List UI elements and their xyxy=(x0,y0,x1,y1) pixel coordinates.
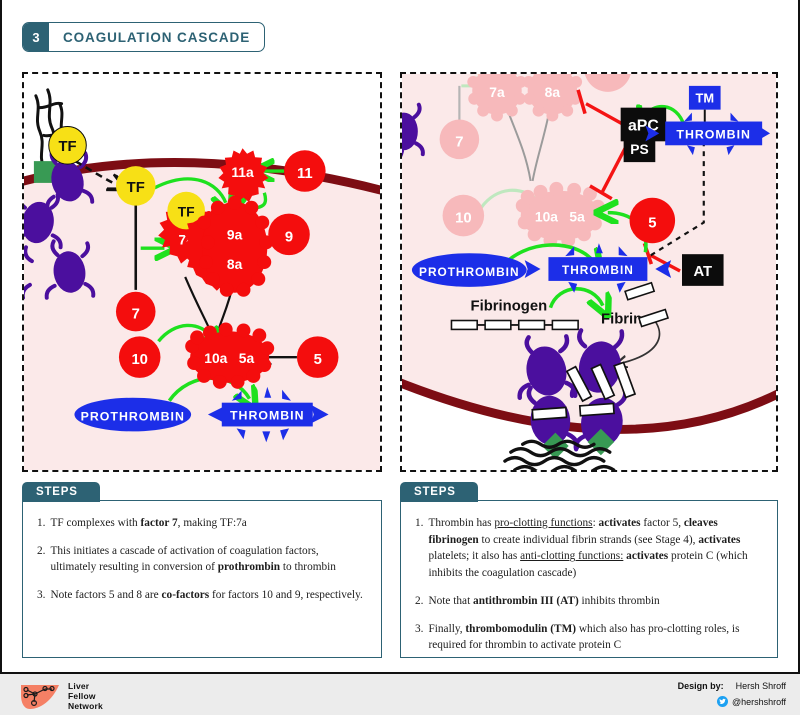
step-index: 1. xyxy=(37,515,45,532)
node-prothrombin: PROTHROMBIN xyxy=(74,398,191,432)
step-item: 2. This initiates a cascade of activatio… xyxy=(37,543,367,576)
step-item: 3. Note factors 5 and 8 are co‑factors f… xyxy=(37,587,367,604)
step-text: This initiates a cascade of activation o… xyxy=(50,543,367,576)
node-thrombin-label: THROMBIN xyxy=(230,409,304,423)
node-factor-5-label: 5 xyxy=(648,215,656,231)
node-factor-11-label: 11 xyxy=(297,166,313,182)
node-tf-surface-label: TF xyxy=(58,139,76,155)
faded-node-factor-8a-label: 8a xyxy=(545,84,561,100)
node-prothrombin: PROTHROMBIN xyxy=(412,253,527,287)
node-tf-small-label: TF xyxy=(178,204,195,220)
node-prothrombin-label: PROTHROMBIN xyxy=(81,409,185,423)
step-text: TF complexes with factor 7, making TF:7a xyxy=(50,515,367,532)
node-factor-10: 10 xyxy=(119,336,161,378)
label-fibrinogen: Fibrinogen xyxy=(471,299,548,315)
node-ps-label: PS xyxy=(630,141,648,157)
node-factor-9: 9 xyxy=(268,214,310,256)
section-number: 3 xyxy=(23,23,49,51)
node-factor-7: 7 xyxy=(116,292,156,332)
node-factor-10-label: 10 xyxy=(131,352,147,368)
step-text: Note factors 5 and 8 are co‑factors for … xyxy=(50,587,367,604)
node-factor-11a-label: 11a xyxy=(231,164,254,180)
node-factor-7-label: 7 xyxy=(132,307,140,323)
steps-tab-left: STEPS xyxy=(22,482,100,502)
logo-line-2: Fellow xyxy=(68,691,103,701)
faded-node-factor-5a-label: 5a xyxy=(569,209,585,225)
node-ps: PS xyxy=(624,134,656,162)
page-title: COAGULATION CASCADE xyxy=(49,23,264,51)
twitter-icon[interactable] xyxy=(717,696,728,707)
node-factor-11: 11 xyxy=(284,150,326,192)
node-factor-5: 5 xyxy=(630,198,676,244)
step-index: 2. xyxy=(415,593,423,610)
twitter-handle[interactable]: @hershshroff xyxy=(732,697,786,707)
step-index: 3. xyxy=(37,587,45,604)
node-at: AT xyxy=(682,254,724,286)
design-by-label: Design by: xyxy=(678,681,724,691)
brand-logo-text: Liver Fellow Network xyxy=(68,681,103,711)
node-prothrombin-label: PROTHROMBIN xyxy=(419,265,519,279)
logo-line-3: Network xyxy=(68,701,103,711)
designer-name: Hersh Shroff xyxy=(736,681,786,691)
node-factor-9a-label: 9a xyxy=(227,226,243,242)
faded-node-factor-7: 7 xyxy=(440,120,480,160)
node-factor-5-label: 5 xyxy=(314,352,322,368)
step-item: 1. Thrombin has pro‑clotting functions: … xyxy=(415,515,763,582)
step-index: 1. xyxy=(415,515,423,582)
node-factor-9-label: 9 xyxy=(285,229,293,245)
faded-node-factor-10a-label: 10a xyxy=(535,209,558,225)
footer: Liver Fellow Network Design by: Hersh Sh… xyxy=(0,672,800,715)
step-text: Thrombin has pro‑clotting functions: act… xyxy=(428,515,763,582)
section-header-chip: 3 COAGULATION CASCADE xyxy=(22,22,265,52)
step-text: Finally, thrombomodulin (TM) which also … xyxy=(428,621,763,654)
step-index: 3. xyxy=(415,621,423,654)
label-fibrin: Fibrin xyxy=(601,311,642,327)
node-factor-5: 5 xyxy=(297,336,339,378)
node-factor-5a-label: 5a xyxy=(239,350,255,366)
step-index: 2. xyxy=(37,543,45,576)
steps-body-right: 1. Thrombin has pro‑clotting functions: … xyxy=(401,501,777,662)
node-at-label: AT xyxy=(693,264,712,280)
design-credit: Design by: Hersh Shroff @hershshroff xyxy=(678,681,786,707)
step-item: 1. TF complexes with factor 7, making TF… xyxy=(37,515,367,532)
logo-line-1: Liver xyxy=(68,681,103,691)
brand-logo: Liver Fellow Network xyxy=(18,681,103,711)
step-item: 2. Note that antithrombin III (AT) inhib… xyxy=(415,593,763,610)
faded-node-factor-10-label: 10 xyxy=(455,210,471,226)
node-factor-10a-label: 10a xyxy=(204,350,227,366)
steps-tab-right: STEPS xyxy=(400,482,478,502)
step-text: Note that antithrombin III (AT) inhibits… xyxy=(428,593,763,610)
diagram-panel-amplification: 7 7a 8a 10 xyxy=(400,72,778,472)
faded-node-factor-7-label: 7 xyxy=(455,134,463,150)
faded-node-factor-10: 10 xyxy=(443,195,485,237)
node-tf-mid-label: TF xyxy=(127,180,145,196)
steps-panel-right: STEPS 1. Thrombin has pro‑clotting funct… xyxy=(400,500,778,658)
faded-node-factor-7a-label: 7a xyxy=(489,84,505,100)
node-factor-8a-label: 8a xyxy=(227,256,243,272)
node-tm-label: TM xyxy=(695,91,714,106)
node-tf-surface: TF xyxy=(49,126,87,164)
step-item: 3. Finally, thrombomodulin (TM) which al… xyxy=(415,621,763,654)
steps-body-left: 1. TF complexes with factor 7, making TF… xyxy=(23,501,381,612)
node-thrombin-label: THROMBIN xyxy=(562,263,634,277)
steps-panel-left: STEPS 1. TF complexes with factor 7, mak… xyxy=(22,500,382,658)
node-thrombin-top-label: THROMBIN xyxy=(676,127,750,141)
diagram-panel-initiation: TF TF 7 7a TF 11a 11 xyxy=(22,72,382,472)
node-tf-mid: TF xyxy=(116,166,156,206)
liver-network-logo-icon xyxy=(18,681,62,711)
